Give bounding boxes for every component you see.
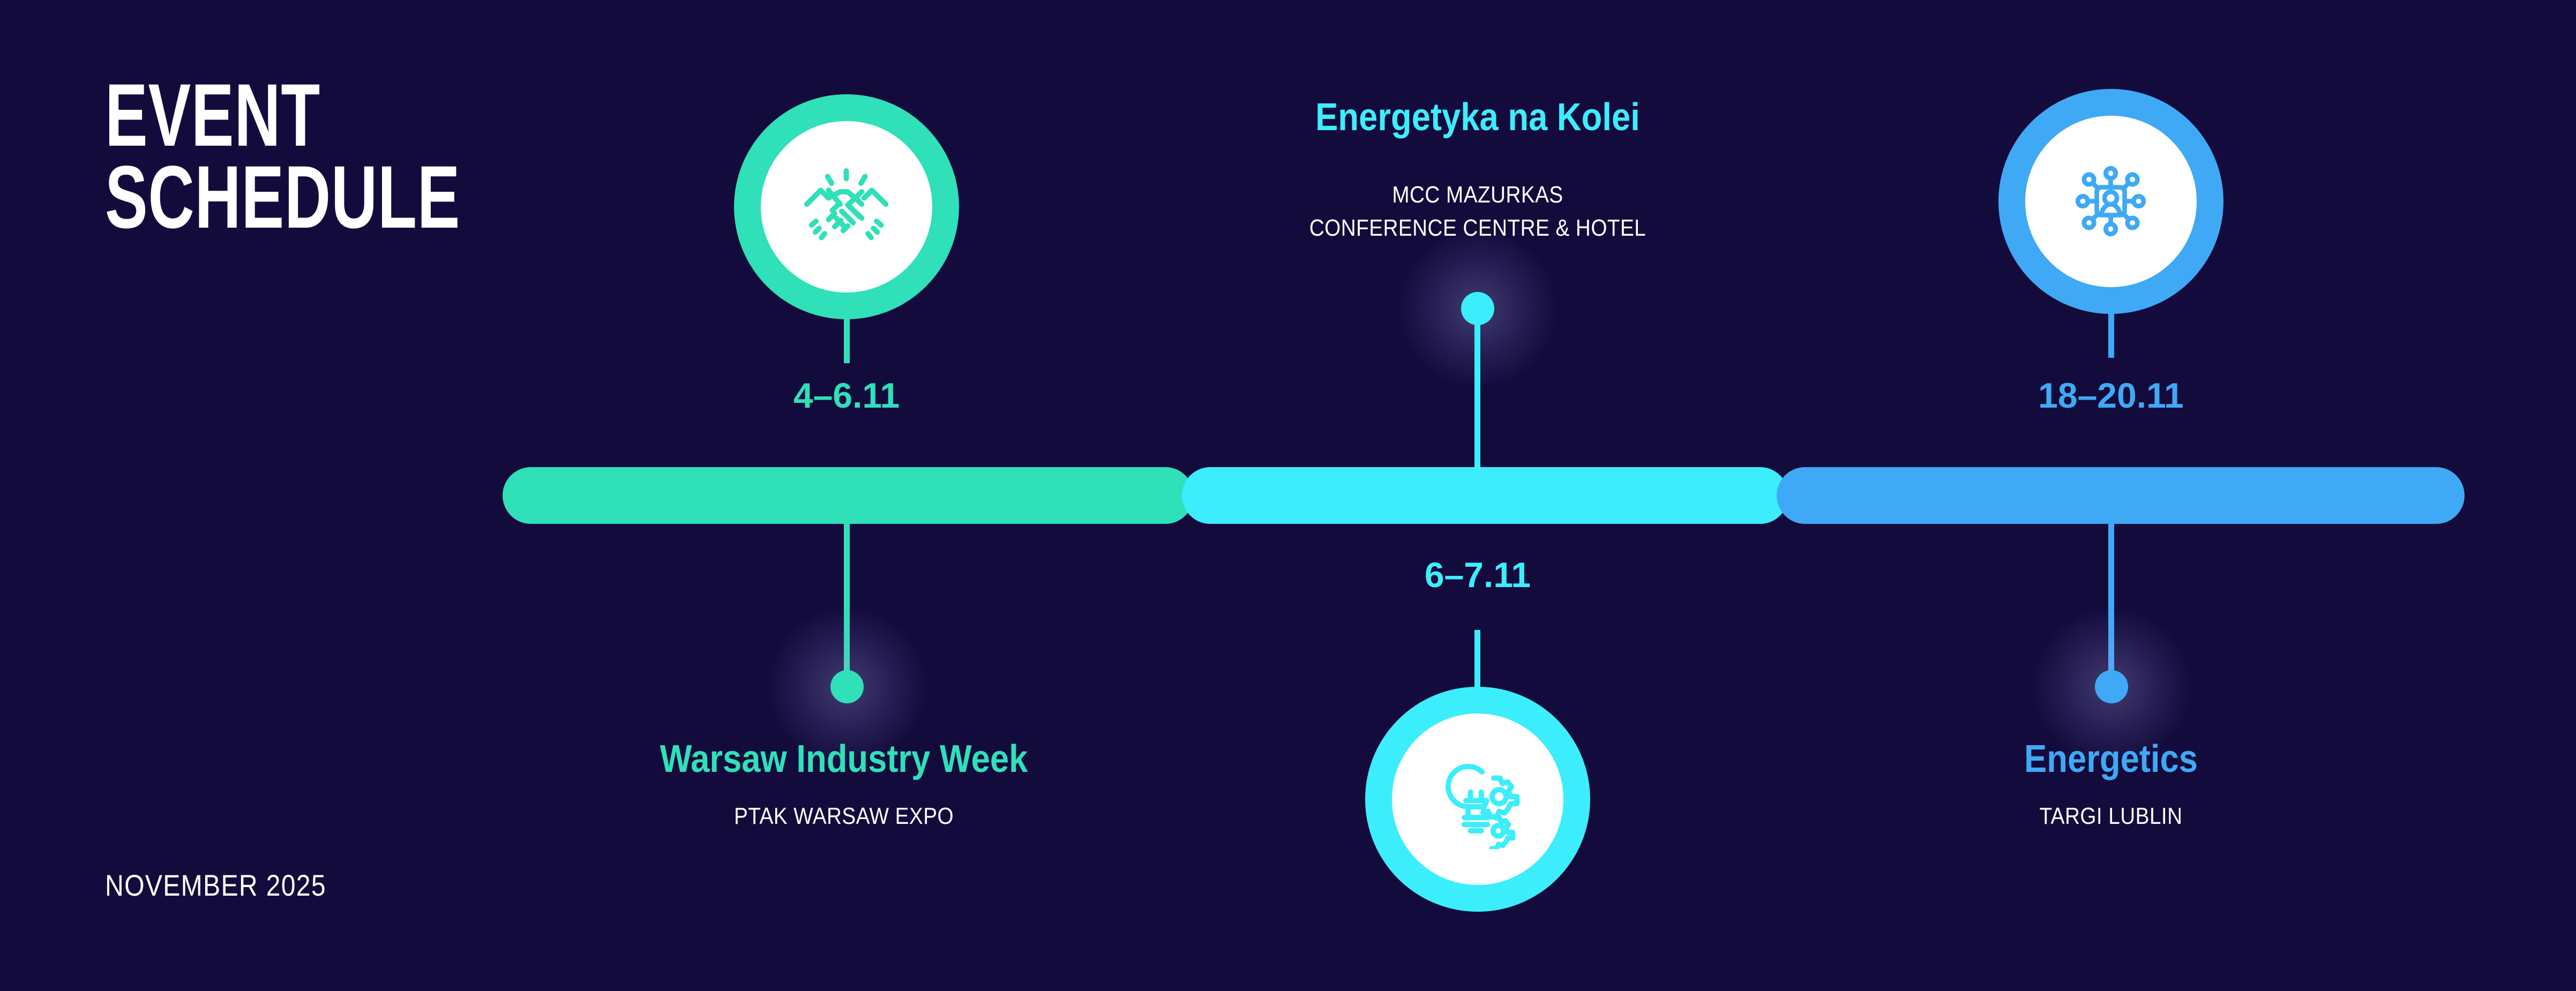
connector-stem-energetics-top bbox=[2108, 309, 2114, 358]
title-line-1: EVENT bbox=[105, 75, 529, 157]
event-icon-circle-energetics[interactable] bbox=[1998, 89, 2223, 314]
connector-stem-warsaw-top bbox=[844, 314, 850, 363]
event-date-warsaw: 4–6.11 bbox=[686, 375, 1007, 416]
person-network-icon bbox=[2061, 152, 2160, 251]
event-date-energetyka: 6–7.11 bbox=[1317, 554, 1638, 595]
connector-stem-energetyka-bottom bbox=[1474, 630, 1480, 691]
lightbulb-gears-icon bbox=[1428, 749, 1527, 849]
event-schedule-infographic: EVENT SCHEDULE NOVEMBER 2025 bbox=[0, 0, 2576, 991]
timeline-segment-cyan bbox=[1182, 467, 1788, 524]
handshake-icon bbox=[797, 157, 896, 256]
connector-dot-warsaw bbox=[830, 670, 864, 703]
event-title-energetics: Energetics bbox=[1734, 737, 2488, 781]
connector-dot-energetics bbox=[2095, 670, 2128, 703]
icon-disc bbox=[761, 121, 932, 292]
connector-dot-energetyka bbox=[1461, 292, 1494, 325]
icon-disc bbox=[1392, 714, 1563, 884]
event-title-energetyka: Energetyka na Kolei bbox=[1100, 95, 1855, 139]
month-label: NOVEMBER 2025 bbox=[105, 868, 326, 903]
connector-stem-energetics-bottom bbox=[2108, 524, 2114, 675]
event-venue-energetyka-line2: CONFERENCE CENTRE & HOTEL bbox=[1100, 214, 1855, 242]
event-venue-energetics: TARGI LUBLIN bbox=[1734, 802, 2488, 830]
title-line-2: SCHEDULE bbox=[105, 157, 529, 239]
connector-stem-energetyka-top bbox=[1474, 321, 1480, 470]
event-venue-energetyka-line1: MCC MAZURKAS bbox=[1100, 181, 1855, 209]
event-icon-circle-warsaw[interactable] bbox=[734, 94, 959, 319]
timeline-bar bbox=[503, 467, 2465, 524]
timeline-segment-teal bbox=[503, 467, 1194, 524]
icon-disc bbox=[2025, 116, 2196, 287]
page-title: EVENT SCHEDULE bbox=[105, 75, 694, 238]
timeline-segment-blue bbox=[1777, 467, 2465, 524]
event-title-warsaw: Warsaw Industry Week bbox=[467, 737, 1221, 781]
event-venue-warsaw: PTAK WARSAW EXPO bbox=[467, 802, 1221, 830]
connector-stem-warsaw-bottom bbox=[844, 524, 850, 675]
event-icon-circle-energetyka[interactable] bbox=[1365, 687, 1590, 912]
event-date-energetics: 18–20.11 bbox=[1950, 375, 2272, 416]
